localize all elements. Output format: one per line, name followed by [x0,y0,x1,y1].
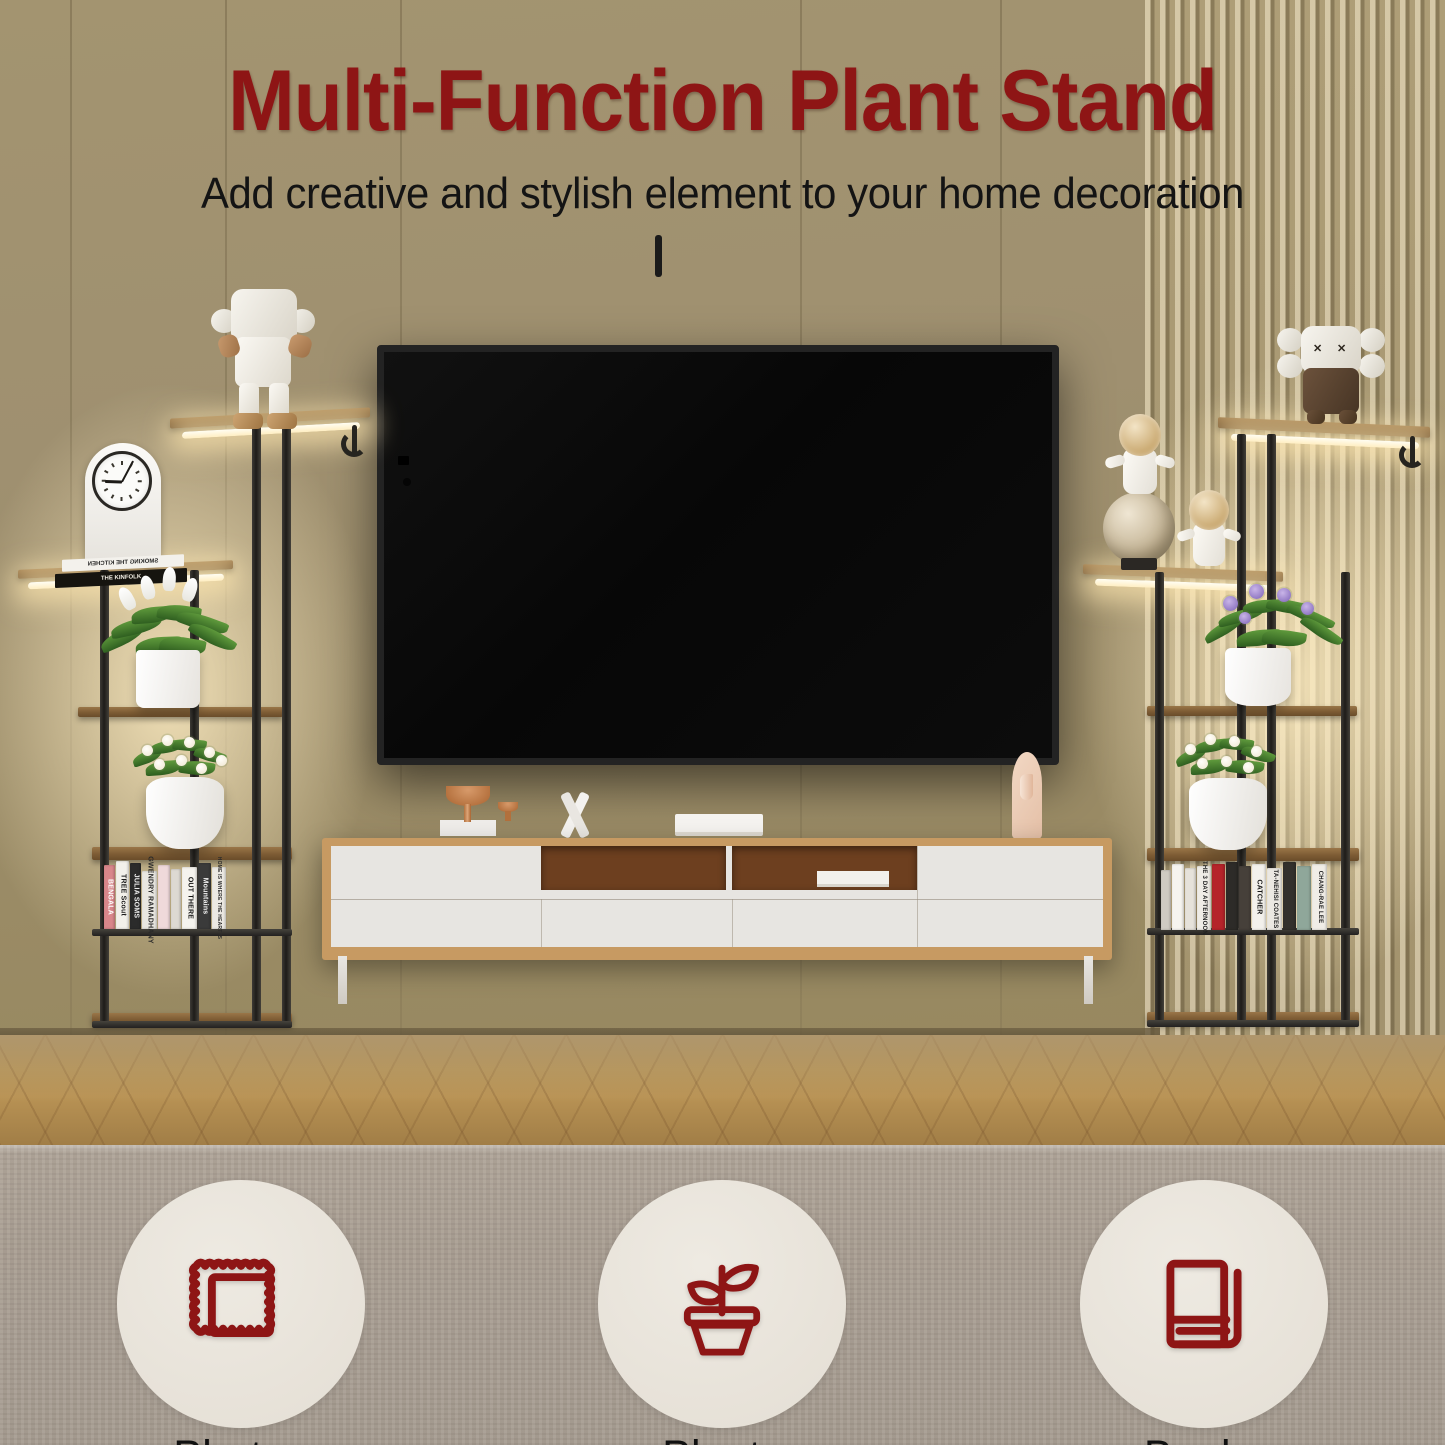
closed-book-icon [1145,1245,1263,1363]
left-plant-stand: SMOKING THE KITCHEN THE KINFOLK [0,395,370,1055]
tv-screen [384,352,1052,758]
badge-books-label: Books [1144,1432,1265,1445]
drawer-seam [917,846,918,947]
tv-indicator-dot [403,478,411,486]
product-marketing-image: SMOKING THE KITCHEN THE KINFOLK [0,0,1445,1445]
console-cubby-right [732,846,917,890]
book-spine [158,865,170,929]
astronaut-large-helmet [1119,414,1161,456]
frame-rail [92,1021,292,1028]
badge-books-circle [1080,1180,1328,1428]
book-spine: TA-NEHISI COATES [1267,868,1282,930]
figurine-leg [1339,410,1357,424]
book-spine [1297,866,1311,930]
frame-rail [92,929,292,936]
shelf-third [1147,706,1357,716]
drawer-seam [331,899,1103,900]
book-row-right: THE 3 DAY AFTERNOON CATCHER TA-NEHISI CO… [1161,862,1327,930]
feature-badges: Photos Plants [0,1180,1445,1430]
drawer-seam [732,899,733,947]
badge-plants-circle [598,1180,846,1428]
white-book-stack [440,820,496,836]
astronaut-large-arm [1154,453,1176,469]
figurine-ear [1277,328,1303,352]
book-spine [1283,862,1296,930]
potted-plant-icon [663,1245,781,1363]
clock-hour-hand [105,480,122,483]
console-body [322,838,1112,960]
figurine-head: ✕ ✕ [1301,326,1361,374]
round-white-vase [1189,778,1267,850]
frame-rail [1147,1020,1359,1027]
white-flower-foliage [1173,724,1285,786]
drawer-seam [541,899,542,947]
right-plant-stand: ✕ ✕ [1085,400,1445,1055]
badge-plants: Plants [557,1180,887,1445]
book-spine: OUT THERE [182,867,197,929]
tv-power-button [398,456,409,465]
book-spine [171,869,181,929]
wall-mounted-tv [377,345,1059,765]
badge-photos-circle [117,1180,365,1428]
book-spine: Mountains [198,863,211,929]
square-white-pot [136,650,200,708]
figurine-torso [1303,368,1359,414]
badge-photos: Photos [76,1180,406,1445]
book-spine [1226,862,1238,930]
copper-small-stem [505,811,511,821]
face-vase-nose [1020,774,1033,800]
figurine-torso [235,337,291,387]
badge-books: Books [1039,1180,1369,1445]
kaws-figurine-dark: ✕ ✕ [1281,322,1383,426]
console-cubby-left [541,846,726,890]
kaws-figurine [213,287,318,422]
desk-clock [85,443,161,565]
badge-plants-label: Plants [662,1432,783,1445]
book-spine: JULIA SOMS [130,863,141,929]
moon-globe-base [1121,558,1157,570]
flat-book-stack [675,814,763,836]
book-spine [1239,866,1251,930]
frame-post [1155,572,1164,1024]
book-spine [1161,870,1171,930]
hook-top [1410,436,1415,466]
book-spine: TREE Scout [116,861,129,929]
book-spine: THE 3 DAY AFTERNOON [1197,866,1211,930]
tv-wall-mount [655,235,662,277]
book-spine: CHANG-RAE LEE [1312,864,1327,930]
cubby-book [817,871,889,887]
figurine-ear [1359,354,1385,378]
photo-frame-stamp-icon [182,1245,300,1363]
book-spine [1212,864,1225,930]
figurine-shoe [233,413,263,429]
copper-bowl-stem [464,804,471,822]
hook-top [352,425,357,455]
book-spine [1172,864,1184,930]
shelf-fourth [1147,848,1359,861]
book-spine [1185,868,1196,930]
bottom-band-highlight [0,1145,1445,1153]
clock-minute-hand [121,460,134,482]
figurine-ear [1359,328,1385,352]
figurine-shoe [267,413,297,429]
tv-console [322,838,1112,960]
clock-face [92,451,152,511]
book-spine: CATCHER [1252,864,1266,930]
round-white-pot [1225,648,1291,706]
book-spine: GWENDRY RAMADHANY [142,871,157,929]
x-sculpture [558,793,592,838]
page-subtitle: Add creative and stylish element to your… [36,172,1409,216]
figurine-leg [1307,410,1325,424]
book-spine: HOME IS WHERE THE HEART IS [212,867,226,929]
figurine-ear [1277,354,1303,378]
book-spine: BENGALA [104,865,115,929]
page-title: Multi-Function Plant Stand [51,58,1395,144]
badge-photos-label: Photos [173,1432,308,1445]
moon-globe [1103,492,1175,564]
book-row-left: BENGALA TREE Scout JULIA SOMS GWENDRY RA… [104,861,226,929]
round-white-vase [146,777,224,849]
astronaut-small-helmet [1189,490,1229,530]
